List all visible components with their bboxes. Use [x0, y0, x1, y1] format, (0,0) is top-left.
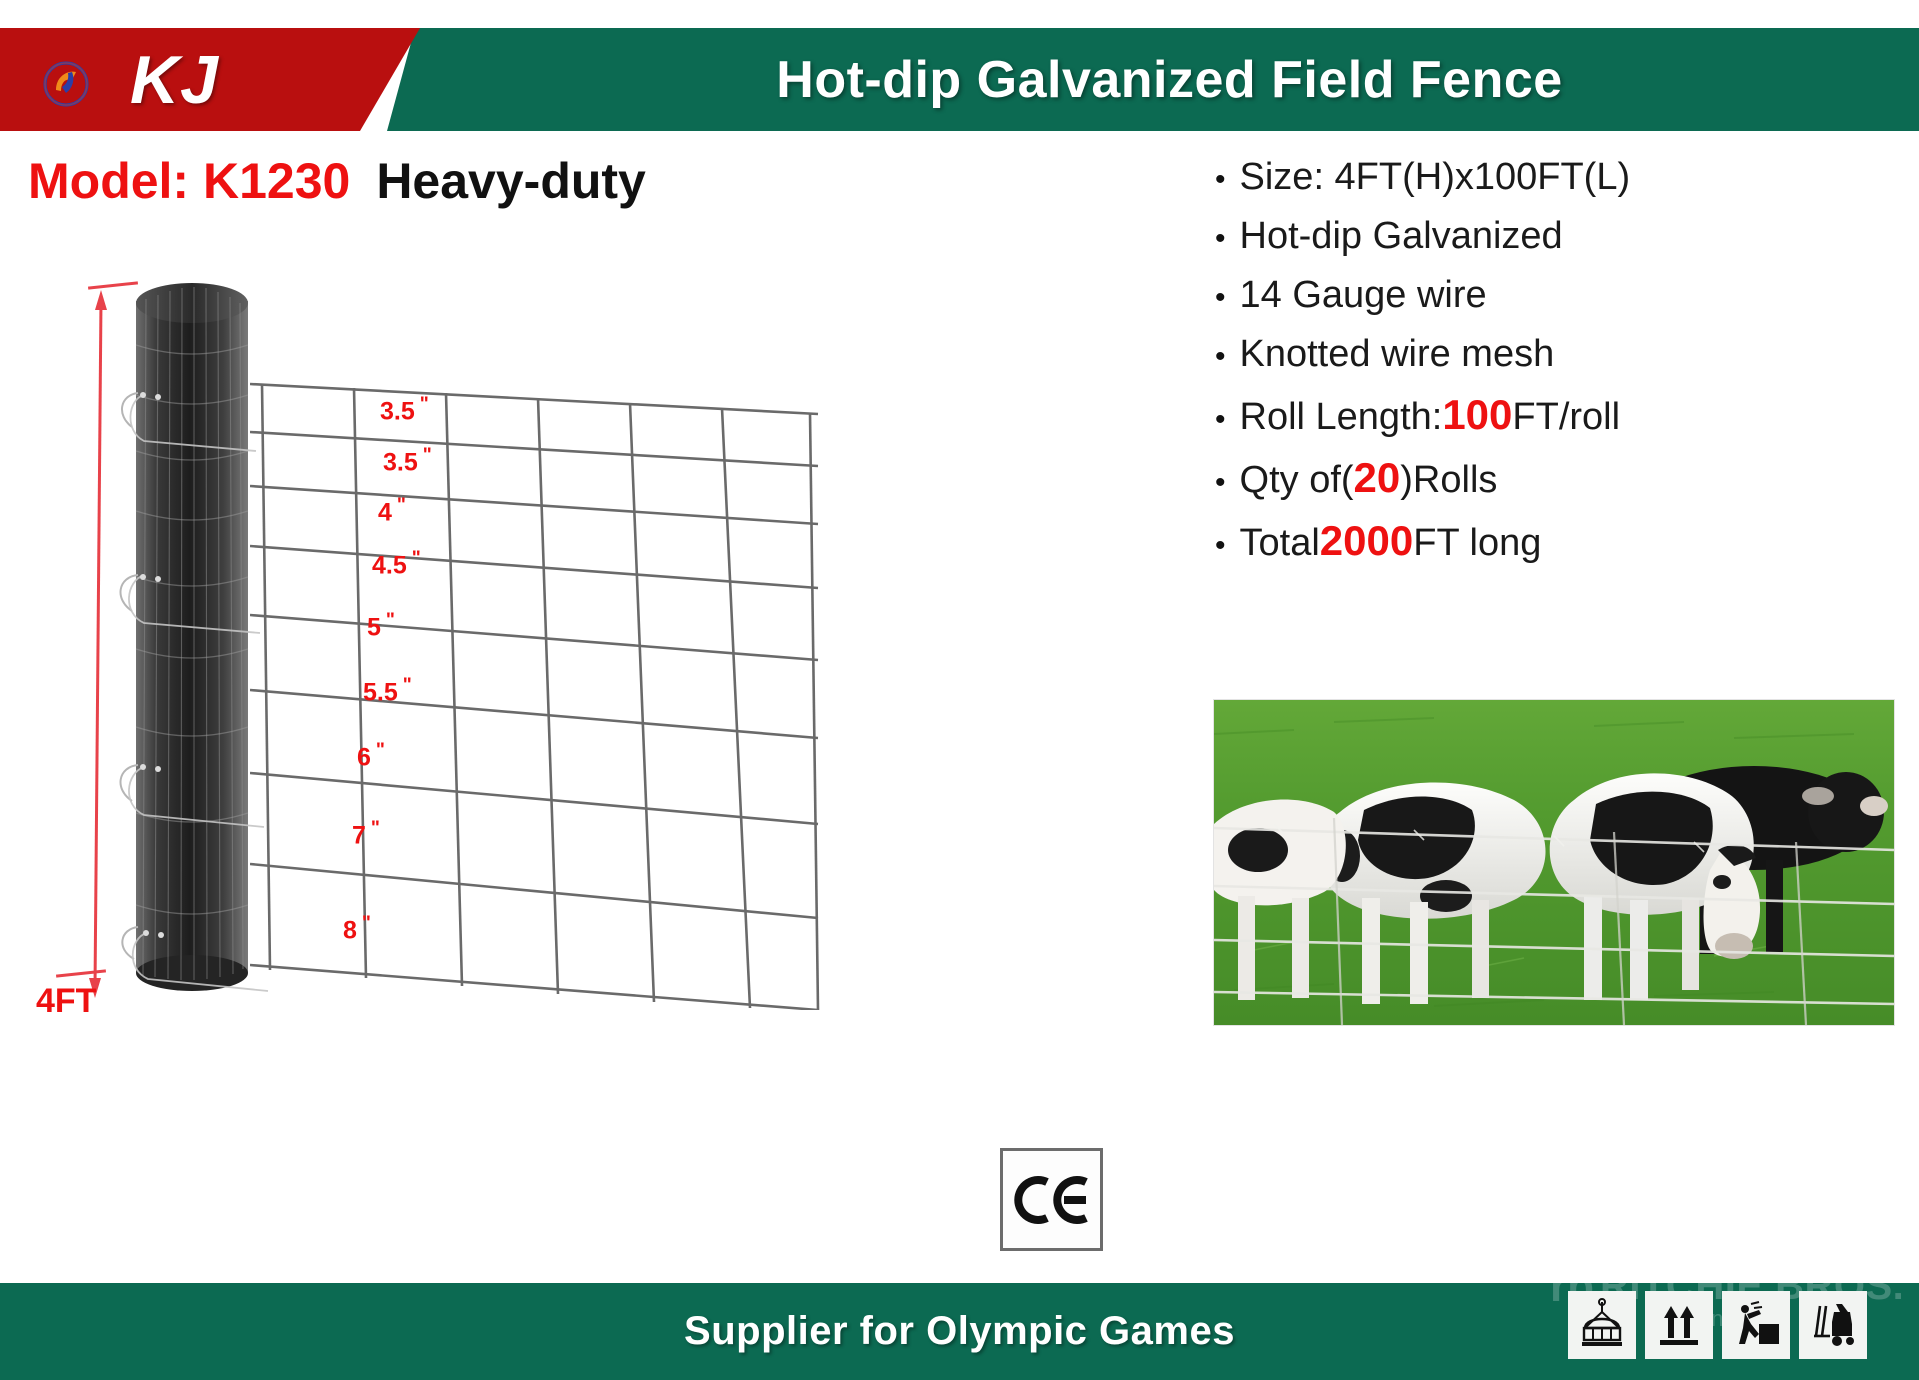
page-header: KJ Hot-dip Galvanized Field Fence	[0, 28, 1919, 131]
wire-mesh-grid-icon	[250, 370, 820, 1015]
inch-unit: "	[423, 445, 432, 466]
product-diagram: 4FT	[0, 270, 1000, 1030]
mesh-spacing-value: 7	[352, 821, 366, 849]
spec-highlight: 100	[1442, 394, 1512, 436]
spec-list: • Size: 4FT(H)x100FT(L) • Hot-dip Galvan…	[1215, 158, 1905, 583]
mesh-spacing-value: 5.5	[363, 678, 398, 706]
kj-circle-logo-icon	[42, 60, 90, 108]
ce-mark-icon	[1000, 1148, 1103, 1251]
inch-unit: "	[371, 818, 380, 839]
spec-item-qty: • Qty of(20)Rolls	[1215, 457, 1905, 499]
mesh-spacing-label-7: 6"	[357, 740, 385, 772]
mesh-spacing-value: 8	[343, 916, 357, 944]
page-title: Hot-dip Galvanized Field Fence	[420, 28, 1919, 131]
mesh-spacing-value: 3.5	[383, 448, 418, 476]
spec-item-mesh: • Knotted wire mesh	[1215, 335, 1905, 373]
mesh-spacing-label-2: 3.5"	[383, 445, 432, 477]
bullet-icon: •	[1215, 468, 1226, 498]
spec-highlight: 20	[1354, 457, 1401, 499]
spec-text: Hot-dip Galvanized	[1240, 217, 1563, 255]
product-datasheet-page: KJ Hot-dip Galvanized Field Fence Model:…	[0, 0, 1919, 1380]
mesh-spacing-label-8: 7"	[352, 818, 380, 850]
spec-text: Knotted wire mesh	[1240, 335, 1555, 373]
mesh-spacing-value: 4.5	[372, 551, 407, 579]
wire-fence-roll-image	[110, 275, 285, 1005]
spec-item-size: • Size: 4FT(H)x100FT(L)	[1215, 158, 1905, 196]
bullet-icon: •	[1215, 531, 1226, 561]
inch-unit: "	[376, 740, 385, 761]
mesh-spacing-label-3: 4"	[378, 495, 406, 527]
spec-text: Roll Length:	[1240, 398, 1443, 436]
brand-wordmark: KJ	[130, 42, 219, 118]
spec-item-gauge: • 14 Gauge wire	[1215, 276, 1905, 314]
spec-text-post: FT/roll	[1512, 398, 1620, 436]
spec-text-post: )Rolls	[1400, 461, 1497, 499]
cows-behind-fence-photo	[1213, 699, 1895, 1026]
mesh-spacing-value: 4	[378, 498, 392, 526]
inch-unit: "	[397, 495, 406, 516]
inch-unit: "	[362, 913, 371, 934]
spec-text: 14 Gauge wire	[1240, 276, 1487, 314]
mesh-spacing-value: 5	[367, 613, 381, 641]
spec-item-total: • Total 2000FT long	[1215, 520, 1905, 562]
inch-unit: "	[412, 548, 421, 569]
spec-item-roll-length: • Roll Length: 100FT/roll	[1215, 394, 1905, 436]
do-not-throw-icon	[1722, 1291, 1790, 1359]
mesh-spacing-label-5: 5"	[367, 610, 395, 642]
mesh-spacing-label-1: 3.5"	[380, 394, 429, 426]
spec-text: Qty of(	[1240, 461, 1354, 499]
bullet-icon: •	[1215, 342, 1226, 372]
inch-unit: "	[420, 394, 429, 415]
this-side-up-icon	[1645, 1291, 1713, 1359]
spec-text-post: FT long	[1413, 524, 1541, 562]
inch-unit: "	[403, 675, 412, 696]
height-dimension-label: 4FT	[36, 982, 96, 1021]
mesh-spacing-label-4: 4.5"	[372, 548, 421, 580]
sling-here-icon	[1568, 1291, 1636, 1359]
spec-text: Size: 4FT(H)x100FT(L)	[1240, 158, 1631, 196]
model-subtitle: Heavy-duty	[376, 153, 646, 209]
bullet-icon: •	[1215, 283, 1226, 313]
model-number: Model: K1230	[28, 153, 350, 209]
handling-pictograms	[1568, 1291, 1868, 1365]
spec-highlight: 2000	[1320, 520, 1413, 562]
inch-unit: "	[386, 610, 395, 631]
mesh-spacing-value: 3.5	[380, 397, 415, 425]
model-line: Model: K1230Heavy-duty	[28, 152, 646, 210]
bullet-icon: •	[1215, 224, 1226, 254]
forklift-icon	[1799, 1291, 1867, 1359]
mesh-spacing-value: 6	[357, 743, 371, 771]
mesh-spacing-label-6: 5.5"	[363, 675, 412, 707]
bullet-icon: •	[1215, 405, 1226, 435]
spec-item-coating: • Hot-dip Galvanized	[1215, 217, 1905, 255]
spec-text: Total	[1240, 524, 1320, 562]
bullet-icon: •	[1215, 165, 1226, 195]
mesh-spacing-label-9: 8"	[343, 913, 371, 945]
